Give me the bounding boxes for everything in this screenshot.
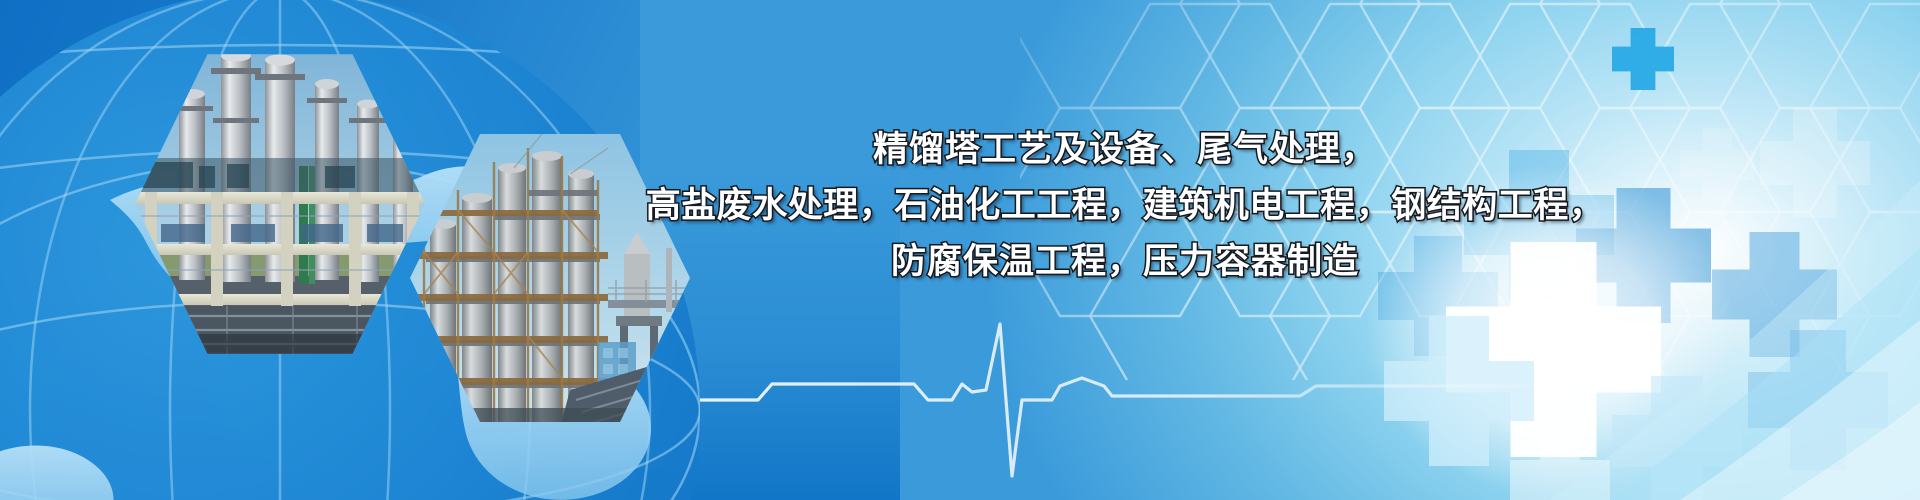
- headline-line-2: 高盐废水处理，石油化工工程，建筑机电工程，钢结构工程，: [620, 178, 1630, 234]
- banner-headline: 精馏塔工艺及设备、尾气处理， 高盐废水处理，石油化工工程，建筑机电工程，钢结构工…: [620, 122, 1630, 290]
- headline-line-3: 防腐保温工程，压力容器制造: [620, 234, 1630, 290]
- promo-banner: 精馏塔工艺及设备、尾气处理， 高盐废水处理，石油化工工程，建筑机电工程，钢结构工…: [0, 0, 1920, 500]
- ecg-pulse-line: [700, 300, 1600, 490]
- headline-line-1: 精馏塔工艺及设备、尾气处理，: [620, 122, 1630, 178]
